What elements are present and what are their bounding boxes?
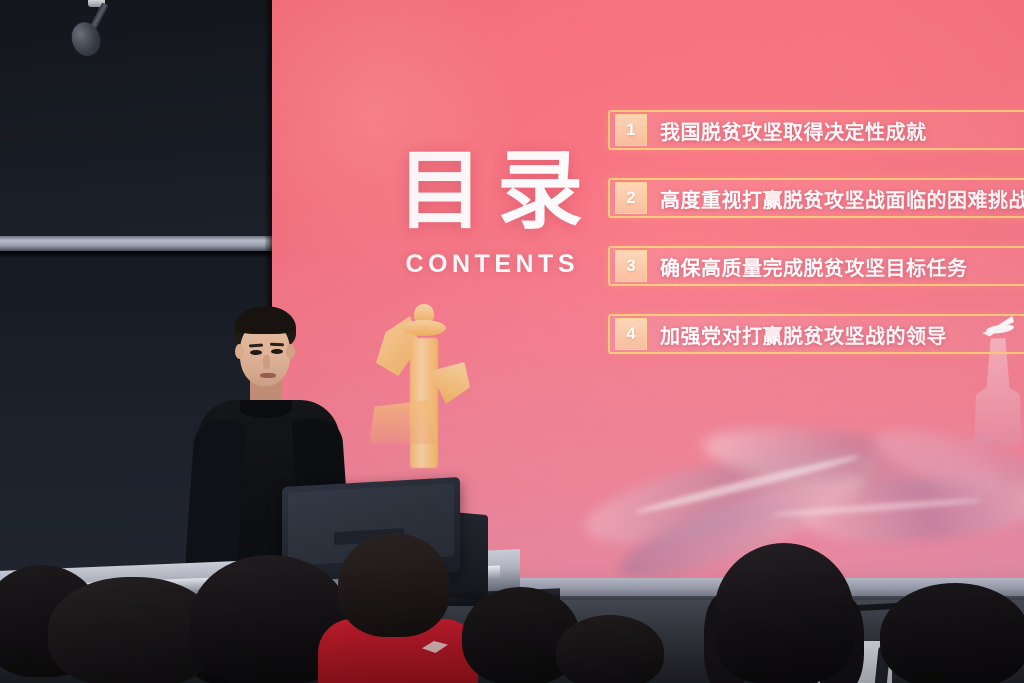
audience-member-8 <box>880 579 1024 683</box>
blackboard-chalk-rail <box>0 236 272 251</box>
contents-badge-2: 2 <box>615 182 647 214</box>
contents-label-3: 确保高质量完成脱贫攻坚目标任务 <box>660 252 968 281</box>
contents-item-3[interactable]: 3 确保高质量完成脱贫攻坚目标任务 <box>608 246 1024 286</box>
contents-badge-4: 4 <box>615 318 647 350</box>
contents-badge-1: 1 <box>615 114 647 146</box>
contents-label-1: 我国脱贫攻坚取得决定性成就 <box>660 116 927 145</box>
monument-cap <box>402 320 446 336</box>
microphone-icon <box>58 0 138 58</box>
contents-badge-3: 3 <box>615 250 647 282</box>
presenter-eye-left <box>250 350 262 355</box>
presenter-ear-right <box>286 344 295 359</box>
huabiao-monument-icon <box>360 296 490 476</box>
contents-item-4[interactable]: 4 加强党对打赢脱贫攻坚战的领导 <box>608 314 1024 354</box>
slide-title-block: 目录 CONTENTS <box>380 148 600 279</box>
presenter-mouth <box>260 373 276 378</box>
audience-head <box>556 615 664 683</box>
contents-list: 1 我国脱贫攻坚取得决定性成就 2 高度重视打赢脱贫攻坚战面临的困难挑战 3 确… <box>608 110 1024 354</box>
audience-head <box>338 533 450 637</box>
page-subtitle: CONTENTS <box>380 250 600 279</box>
blackboard-rail-shadow <box>0 251 272 258</box>
tiananmen-gate-shape <box>366 396 438 444</box>
audience-head <box>880 583 1024 683</box>
contents-item-1[interactable]: 1 我国脱贫攻坚取得决定性成就 <box>608 110 1024 150</box>
contents-label-2: 高度重视打赢脱贫攻坚战面临的困难挑战 <box>660 184 1024 213</box>
contents-item-2[interactable]: 2 高度重视打赢脱贫攻坚战面临的困难挑战 <box>608 178 1024 218</box>
presenter-left-arm <box>185 418 247 571</box>
audience-member-white-top <box>700 543 876 683</box>
lecture-hall-scene: 目录 CONTENTS 1 我国脱贫攻坚取得决定性成就 2 高度重视打赢脱贫攻坚… <box>0 0 1024 683</box>
contents-label-4: 加强党对打赢脱贫攻坚战的领导 <box>660 320 947 349</box>
presenter-nose <box>263 355 270 369</box>
microphone-capsule <box>67 19 104 60</box>
presenter-ear-left <box>235 344 244 359</box>
audience-head <box>714 543 854 683</box>
presenter-collar <box>240 400 292 418</box>
audience-member-red-shirt <box>326 533 462 683</box>
audience-member-6 <box>556 609 664 683</box>
presenter-fringe <box>236 314 294 334</box>
page-title: 目录 <box>380 148 600 234</box>
presenter-eye-right <box>271 349 283 354</box>
